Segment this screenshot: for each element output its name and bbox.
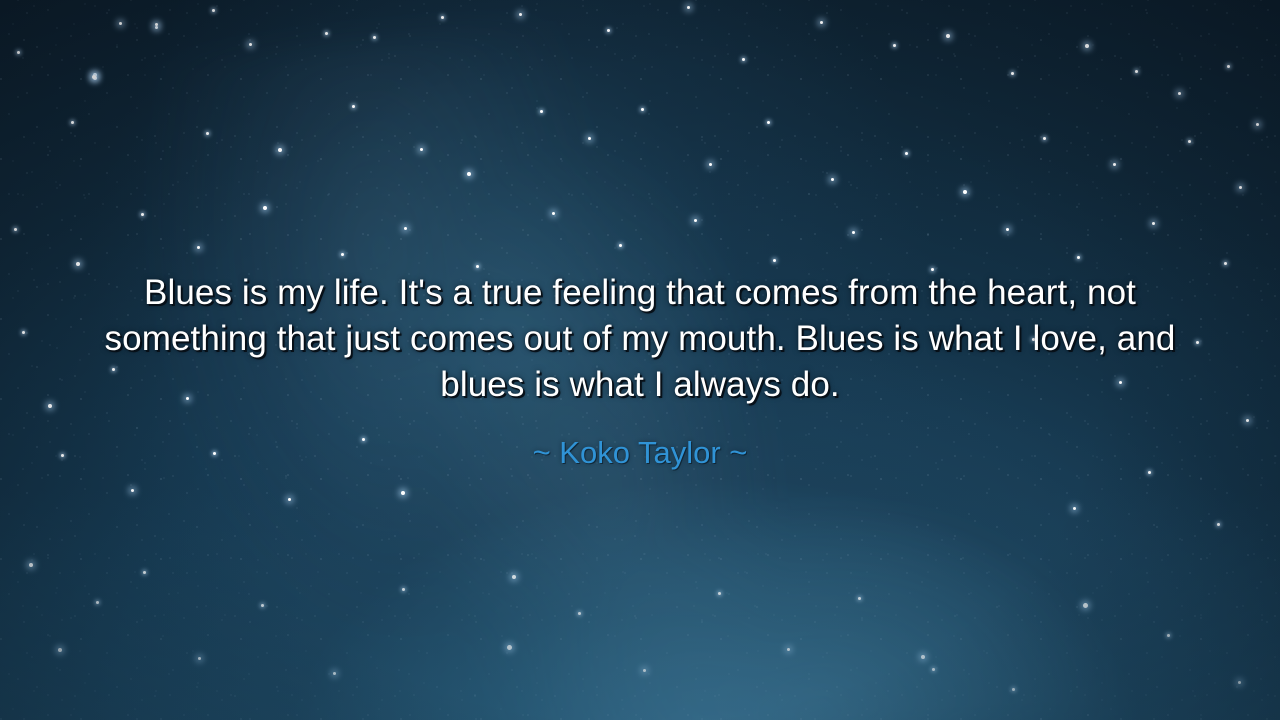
star-icon (1256, 123, 1259, 126)
star-icon (709, 163, 712, 166)
star-icon (893, 44, 896, 47)
star-icon (1178, 92, 1181, 95)
star-icon (249, 43, 252, 46)
star-icon (71, 121, 74, 124)
star-icon (1135, 70, 1138, 73)
star-icon (1152, 222, 1155, 225)
star-icon (1043, 137, 1046, 140)
star-icon (1113, 163, 1116, 166)
star-icon (1077, 256, 1080, 259)
star-icon (333, 672, 336, 675)
star-icon (119, 22, 122, 25)
star-icon (519, 13, 522, 16)
star-icon (643, 669, 646, 672)
star-icon (858, 597, 861, 600)
star-icon (143, 571, 146, 574)
star-icon (687, 6, 690, 9)
star-icon (512, 575, 516, 579)
star-icon (476, 265, 479, 268)
star-icon (197, 246, 200, 249)
quote-text: Blues is my life. It's a true feeling th… (62, 270, 1218, 408)
star-icon (773, 259, 776, 262)
star-icon (29, 563, 33, 567)
star-icon (1012, 688, 1015, 691)
star-icon (1006, 228, 1009, 231)
star-icon (212, 9, 215, 12)
star-icon (921, 655, 925, 659)
star-icon (963, 190, 967, 194)
star-icon (441, 16, 444, 19)
star-icon (76, 262, 80, 266)
star-icon (552, 212, 555, 215)
star-icon (58, 648, 62, 652)
star-icon (1167, 634, 1170, 637)
star-icon (92, 75, 96, 79)
star-icon (96, 601, 99, 604)
star-icon (1238, 681, 1241, 684)
star-icon (420, 148, 423, 151)
star-icon (155, 23, 158, 26)
star-icon (14, 228, 17, 231)
star-icon (1239, 186, 1242, 189)
star-icon (325, 32, 328, 35)
star-icon (17, 51, 20, 54)
star-icon (905, 152, 908, 155)
star-icon (619, 244, 622, 247)
star-icon (1224, 262, 1227, 265)
star-icon (263, 206, 267, 210)
star-icon (852, 231, 855, 234)
star-icon (261, 604, 264, 607)
star-icon (1083, 603, 1088, 608)
star-icon (373, 36, 376, 39)
star-icon (932, 668, 935, 671)
star-icon (578, 612, 581, 615)
star-icon (742, 58, 745, 61)
star-icon (946, 34, 950, 38)
star-icon (767, 121, 770, 124)
star-icon (206, 132, 209, 135)
star-icon (1227, 65, 1230, 68)
star-icon (718, 592, 721, 595)
quote-author: ~ Koko Taylor ~ (62, 434, 1218, 472)
star-icon (404, 227, 407, 230)
star-icon (141, 213, 144, 216)
star-icon (507, 645, 512, 650)
star-icon (1217, 523, 1220, 526)
star-icon (198, 657, 201, 660)
star-icon (1073, 507, 1076, 510)
star-icon (641, 108, 644, 111)
star-icon (467, 172, 471, 176)
star-icon (588, 137, 591, 140)
star-icon (155, 26, 158, 29)
star-icon (1085, 44, 1089, 48)
star-icon (341, 253, 344, 256)
quote-card-stage: Blues is my life. It's a true feeling th… (0, 0, 1280, 720)
star-icon (1011, 72, 1014, 75)
star-icon (820, 21, 823, 24)
star-icon (278, 148, 282, 152)
star-icon (607, 29, 610, 32)
star-icon (401, 491, 405, 495)
star-icon (352, 105, 355, 108)
star-icon (831, 178, 834, 181)
star-icon (402, 588, 405, 591)
star-icon (787, 648, 790, 651)
star-icon (288, 498, 291, 501)
star-icon (131, 489, 134, 492)
star-icon (1188, 140, 1191, 143)
star-icon (540, 110, 543, 113)
star-icon (694, 219, 697, 222)
quote-block: Blues is my life. It's a true feeling th… (0, 270, 1280, 472)
